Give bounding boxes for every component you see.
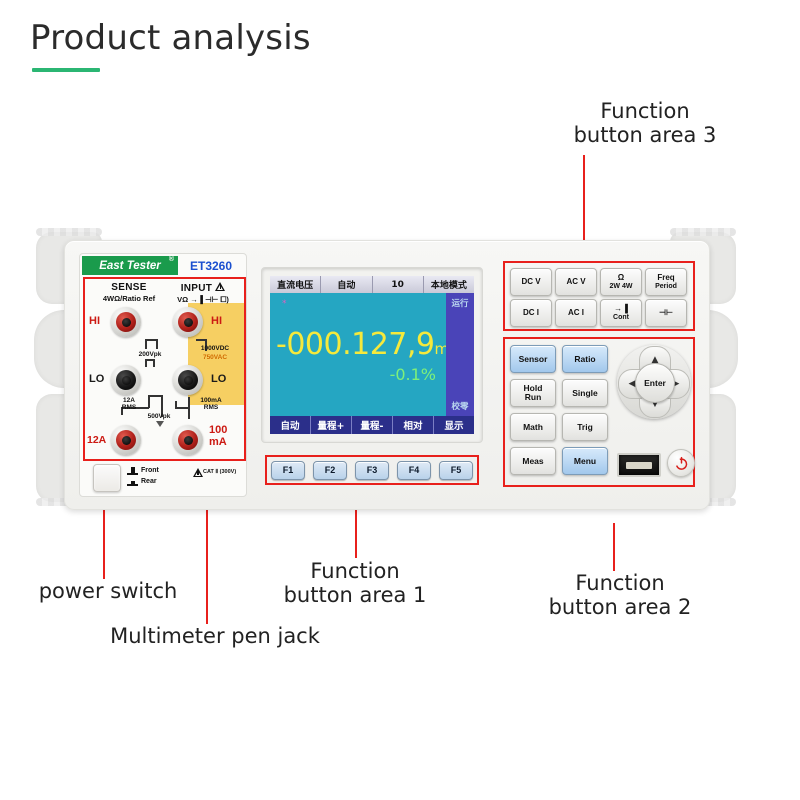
function-button-area-3: DC V AC V Ω 2W 4W Freq Period DC I AC I (503, 261, 695, 331)
cat-rating-label: CAT Ⅱ (300V) (203, 469, 236, 475)
lcd-screen: 直流电压 自动 10 本地模式 * -000.127,9mV -0.1% 运行 … (270, 276, 474, 434)
jack-12a[interactable] (111, 425, 141, 455)
button-resistance[interactable]: Ω 2W 4W (600, 268, 642, 296)
lcd-softkey-auto[interactable]: 自动 (270, 416, 311, 434)
lcd-side-run[interactable]: 运行 (446, 297, 474, 309)
panel-bottom-strip: Front Rear CAT Ⅱ (300V) (83, 460, 242, 494)
button-sensor[interactable]: Sensor (510, 345, 556, 373)
wire-sense-3 (156, 339, 158, 349)
button-meas[interactable]: Meas (510, 447, 556, 475)
jack-100ma[interactable] (173, 425, 203, 455)
button-ratio[interactable]: Ratio (562, 345, 608, 373)
control-key-grid: Sensor Ratio Hold Run Single Math Trig M… (510, 345, 608, 475)
label-100ma: 100 mA (209, 425, 227, 448)
lcd-mode-function: 直流电压 (270, 276, 321, 293)
wire-cur-3 (148, 395, 150, 408)
annotation-area-3: Function button area 3 (525, 100, 765, 147)
annotation-area-1: Function button area 1 (250, 560, 460, 607)
lcd-softkey-range-up[interactable]: 量程+ (311, 416, 352, 434)
button-capacitance[interactable]: ⊣⊢ (645, 299, 687, 327)
lcd-softkey-range-down[interactable]: 量程- (352, 416, 393, 434)
lcd-softkey-relative[interactable]: 相对 (393, 416, 434, 434)
capacitor-icon: ⊣⊢ (659, 309, 673, 317)
usb-port[interactable] (617, 453, 661, 477)
jack-input-lo[interactable] (173, 365, 203, 395)
button-f3[interactable]: F3 (355, 461, 389, 480)
rear-terminal-icon (127, 478, 138, 486)
annotation-area-2: Function button area 2 (495, 572, 745, 619)
multimeter-instrument: East Tester ® ET3260 SENSE 4WΩ/Ratio Ref… (36, 226, 736, 544)
lcd-rate-value: 10 (373, 276, 424, 293)
lcd-control-mode: 本地模式 (424, 276, 474, 293)
wire-lo-3 (145, 359, 154, 361)
note-12a-rms: 12A RMS (113, 397, 145, 412)
lcd-softkey-bar: 自动 量程+ 量程- 相对 显示 (270, 416, 474, 434)
brand-logo: East Tester ® (82, 256, 178, 275)
button-ac-i[interactable]: AC I (555, 299, 597, 327)
page-title: Product analysis (30, 18, 311, 58)
wire-cur-8 (175, 401, 177, 408)
label-input-hi: HI (211, 315, 222, 327)
front-panel: East Tester ® ET3260 SENSE 4WΩ/Ratio Ref… (64, 240, 710, 510)
brand-row: East Tester ® ET3260 (82, 256, 244, 275)
model-number: ET3260 (178, 256, 244, 275)
wire-cur-4 (148, 395, 162, 397)
button-ac-v[interactable]: AC V (555, 268, 597, 296)
button-f5[interactable]: F5 (439, 461, 473, 480)
label-12a: 12A (87, 434, 106, 446)
power-button[interactable] (667, 449, 695, 477)
brand-name: East Tester (99, 260, 161, 272)
button-dc-v[interactable]: DC V (510, 268, 552, 296)
label-input-lo: LO (211, 373, 226, 385)
input-header: INPUT VΩ →▐ ⊣⊢ ⧠) (165, 282, 241, 305)
front-terminal-icon (127, 467, 138, 475)
button-menu[interactable]: Menu (562, 447, 608, 475)
function-button-area-2: Sensor Ratio Hold Run Single Math Trig M… (503, 337, 695, 487)
asterisk-indicator-icon: * (282, 300, 287, 309)
wire-sense-1 (145, 339, 147, 349)
button-dc-i[interactable]: DC I (510, 299, 552, 327)
earth-ground-icon (156, 421, 164, 427)
registered-mark-icon: ® (169, 256, 174, 263)
button-trig[interactable]: Trig (562, 413, 608, 441)
function-button-area-1: F1 F2 F3 F4 F5 (265, 455, 479, 485)
annotation-power-switch: power switch (8, 580, 208, 604)
diode-icon: →▐ (614, 305, 628, 313)
lcd-percent-reading: -0.1% (390, 365, 436, 384)
label-sense-lo: LO (89, 373, 104, 385)
button-f1[interactable]: F1 (271, 461, 305, 480)
button-single[interactable]: Single (562, 379, 608, 407)
note-750vac: 750VAC (189, 354, 241, 361)
lcd-side-zero[interactable]: 校零 (446, 400, 474, 412)
lcd-main-area: * -000.127,9mV -0.1% 运行 校零 (270, 293, 474, 416)
jack-sense-lo[interactable] (111, 365, 141, 395)
annotation-pen-jack: Multimeter pen jack (70, 625, 360, 649)
lcd-bezel: 直流电压 自动 10 本地模式 * -000.127,9mV -0.1% 运行 … (261, 267, 483, 443)
lcd-side-menu: 运行 校零 (446, 293, 474, 416)
lcd-range-mode: 自动 (321, 276, 372, 293)
power-switch[interactable] (93, 464, 121, 492)
button-diode-continuity[interactable]: →▐ Cont (600, 299, 642, 327)
cat-warning-icon (193, 468, 203, 477)
label-sense-hi: HI (89, 315, 100, 327)
title-underline (32, 68, 100, 72)
wire-input-2 (196, 339, 206, 341)
button-f4[interactable]: F4 (397, 461, 431, 480)
note-100ma-rms: 100mA RMS (191, 397, 231, 412)
lcd-softkey-display[interactable]: 显示 (434, 416, 474, 434)
measurement-key-grid: DC V AC V Ω 2W 4W Freq Period DC I AC I (510, 268, 687, 327)
terminal-panel: East Tester ® ET3260 SENSE 4WΩ/Ratio Ref… (79, 253, 247, 497)
wire-cur-7 (175, 407, 189, 409)
terminal-area-highlight: SENSE 4WΩ/Ratio Ref INPUT VΩ →▐ ⊣⊢ ⧠) HI… (83, 277, 246, 461)
note-200vpk: 200Vpk (125, 351, 175, 358)
button-freq-period[interactable]: Freq Period (645, 268, 687, 296)
button-math[interactable]: Math (510, 413, 556, 441)
note-500vpk: 500Vpk (137, 413, 181, 420)
front-row: Front (127, 465, 159, 476)
button-hold-run[interactable]: Hold Run (510, 379, 556, 407)
note-1000vdc: 1000VDC (189, 345, 241, 352)
navigation-dpad: ▲ ▼ ◀ ▶ Enter (617, 345, 691, 419)
lcd-status-bar: 直流电压 自动 10 本地模式 (270, 276, 474, 294)
sense-header: SENSE 4WΩ/Ratio Ref (93, 282, 165, 303)
enter-button[interactable]: Enter (635, 363, 675, 403)
button-f2[interactable]: F2 (313, 461, 347, 480)
power-icon (674, 456, 689, 471)
jack-sense-hi[interactable] (111, 307, 141, 337)
rear-row: Rear (127, 476, 159, 487)
front-rear-indicator: Front Rear (127, 465, 159, 487)
lcd-primary-reading: -000.127,9mV (276, 327, 458, 362)
jack-input-hi[interactable] (173, 307, 203, 337)
warning-triangle-icon (215, 282, 225, 291)
reading-value: -000.127,9 (276, 327, 435, 362)
